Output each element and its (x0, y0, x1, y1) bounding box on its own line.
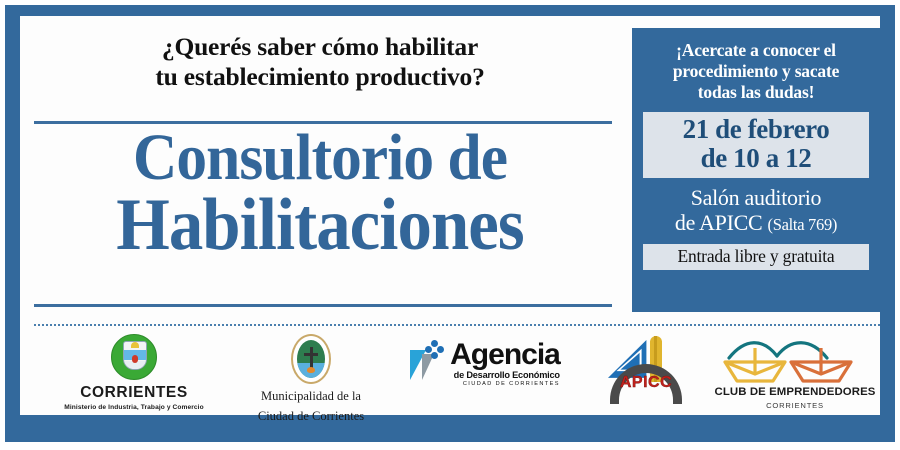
agencia-subtitle-2: CIUDAD DE CORRIENTES (450, 381, 560, 387)
date-line-1: 21 de febrero (643, 115, 869, 144)
agencia-name: Agencia (450, 340, 560, 370)
apicc-name: APICC (600, 374, 692, 392)
free-admission-label: Entrada libre y gratuita (677, 246, 834, 266)
headline-line-2: tu establecimiento productivo? (20, 62, 620, 92)
corrientes-shield-icon (123, 341, 147, 370)
logo-corrientes: CORRIENTES Ministerio de Industria, Trab… (44, 334, 224, 411)
corrientes-name: CORRIENTES (44, 384, 224, 402)
agencia-flower-icon (425, 340, 445, 360)
cross-icon-horizontal (304, 353, 317, 356)
date-line-2: de 10 a 12 (643, 144, 869, 173)
main-title: Consultorio de Habilitaciones (20, 128, 620, 259)
venue-text: Salón auditorio de APICC (Salta 769) (641, 185, 871, 237)
corrientes-subtitle: Ministerio de Industria, Trabajo y Comer… (44, 404, 224, 411)
municipalidad-line-1: Municipalidad de la (216, 389, 406, 404)
dotted-separator (34, 324, 880, 326)
right-info-panel: ¡Acercate a conocer el procedimiento y s… (632, 28, 880, 312)
venue-line-1: Salón auditorio (641, 185, 871, 210)
divider-rule-bottom (34, 304, 612, 307)
club-boats-icon (715, 336, 875, 384)
headline-line-1: ¿Querés saber cómo habilitar (20, 32, 620, 62)
logo-club-emprendedores: CLUB DE EMPRENDEDORES CORRIENTES (710, 336, 880, 410)
phrygian-cap-icon (131, 342, 139, 348)
logo-agencia: Agencia de Desarrollo Económico CIUDAD D… (394, 338, 574, 388)
corrientes-seal-icon (111, 334, 157, 380)
municipalidad-seal-inner (297, 340, 325, 378)
agencia-subtitle-1: de Desarrollo Económico (450, 370, 560, 380)
promo-line-1: ¡Acercate a conocer el (641, 40, 871, 61)
shield-emblem (132, 355, 138, 363)
promo-text: ¡Acercate a conocer el procedimiento y s… (641, 40, 871, 103)
venue-address: (Salta 769) (768, 215, 838, 234)
club-subtitle: CORRIENTES (710, 401, 880, 410)
municipalidad-line-2: Ciudad de Corrientes (216, 409, 406, 424)
agencia-mark-icon (408, 340, 448, 386)
content-canvas: ¿Querés saber cómo habilitar tu establec… (20, 16, 880, 415)
logo-apicc: APICC (586, 334, 706, 410)
date-box: 21 de febrero de 10 a 12 (643, 112, 869, 178)
title-line-1: Consultorio de (41, 128, 599, 189)
left-panel: ¿Querés saber cómo habilitar tu establec… (20, 16, 620, 316)
promo-line-2: procedimiento y sacate (641, 61, 871, 82)
headline-question: ¿Querés saber cómo habilitar tu establec… (20, 32, 620, 92)
venue-name: de APICC (675, 210, 768, 235)
club-name: CLUB DE EMPRENDEDORES (710, 386, 880, 398)
venue-line-2: de APICC (Salta 769) (641, 210, 871, 237)
apicc-mark-icon: APICC (600, 334, 692, 406)
promo-line-3: todas las dudas! (641, 82, 871, 103)
bottom-blue-band (5, 424, 895, 442)
promotional-banner: ¿Querés saber cómo habilitar tu establec… (0, 0, 900, 450)
boats-and-bridge-svg (715, 336, 875, 384)
logo-municipalidad: Municipalidad de la Ciudad de Corrientes (216, 334, 406, 424)
free-admission-box: Entrada libre y gratuita (643, 244, 869, 270)
municipalidad-seal-icon (291, 334, 331, 384)
sponsor-logo-strip: CORRIENTES Ministerio de Industria, Trab… (20, 334, 880, 414)
title-line-2: Habilitaciones (41, 191, 599, 259)
cross-icon-vertical (310, 347, 313, 370)
